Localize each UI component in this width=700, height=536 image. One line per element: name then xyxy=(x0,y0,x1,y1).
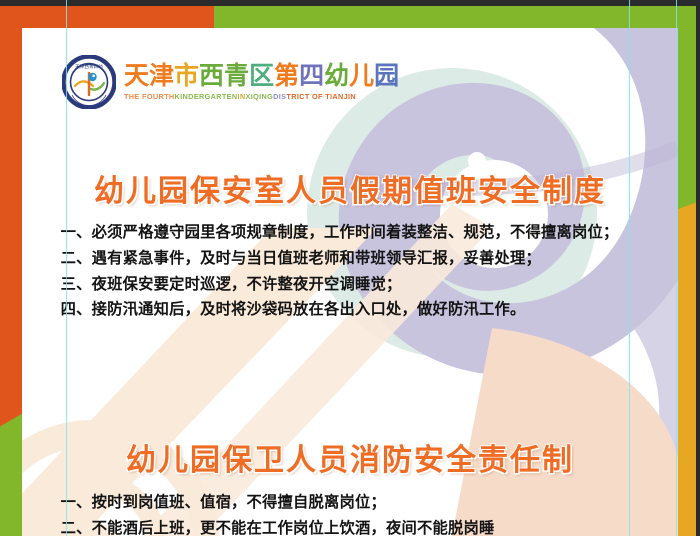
frame-right-dark xyxy=(696,0,700,536)
section-title-2: 幼儿园保卫人员消防安全责任制 xyxy=(22,435,678,479)
section-title-1: 幼儿园保安室人员假期值班安全制度 xyxy=(22,166,678,210)
logo-text: 天津市西青区第四幼儿园 THE FOURTH KINDERGARTEN IN X… xyxy=(124,63,399,101)
frame-top-green xyxy=(214,6,700,28)
logo-en-segment: XIQING xyxy=(246,92,274,101)
guide-line-left xyxy=(66,0,67,536)
logo-en-segment: IN xyxy=(238,92,246,101)
rule-item: 二、不能酒后上班，更不能在工作岗位上饮酒，夜间不能脱岗睡 xyxy=(30,516,678,536)
logo-char: 市 xyxy=(174,63,199,89)
frame-right-green xyxy=(678,6,700,206)
logo-char: 儿 xyxy=(349,63,374,89)
frame-top-orange xyxy=(0,6,214,28)
logo-char: 西 xyxy=(199,63,224,89)
section-body-2: 一、按时到岗值班、值宿，不得擅自脱离岗位； 二、不能酒后上班，更不能在工作岗位上… xyxy=(30,490,678,536)
logo-char: 津 xyxy=(149,63,174,89)
logo-en-segment: KINDERGARTEN xyxy=(175,92,238,101)
guide-line-right xyxy=(629,0,630,536)
school-logo: 天津西青四幼 天津市西青区第四幼儿园 THE FOURTH KINDERGART… xyxy=(62,55,399,109)
rule-item: 一、按时到岗值班、值宿，不得擅自脱离岗位； xyxy=(30,490,678,515)
guide-line-edge xyxy=(676,0,677,536)
frame-left-green xyxy=(0,424,22,536)
rule-item: 四、接防汛通知后，及时将沙袋码放在各出入口处，做好防汛工作。 xyxy=(30,297,678,322)
logo-char: 幼 xyxy=(324,63,349,89)
logo-en-segment: DIS xyxy=(273,92,286,101)
rule-item: 一、必须严格遵守园里各项规章制度，工作时间着装整洁、规范，不得擅离岗位； xyxy=(30,220,678,245)
frame-right-amber xyxy=(678,206,700,536)
logo-char: 四 xyxy=(299,63,324,89)
section-body-1: 一、必须严格遵守园里各项规章制度，工作时间着装整洁、规范，不得擅离岗位； 二、遇… xyxy=(30,220,678,323)
frame-top-dark xyxy=(0,0,700,6)
logo-english-name: THE FOURTH KINDERGARTEN IN XIQING DISTRI… xyxy=(124,92,399,101)
logo-char: 第 xyxy=(274,63,299,89)
frame-left-orange xyxy=(0,6,22,430)
logo-chinese-name: 天津市西青区第四幼儿园 xyxy=(124,63,399,89)
logo-char: 区 xyxy=(249,63,274,89)
poster-content: 天津西青四幼 天津市西青区第四幼儿园 THE FOURTH KINDERGART… xyxy=(22,28,678,536)
logo-en-segment: TRICT OF TIANJIN xyxy=(286,92,356,101)
svg-text:天津西青四幼: 天津西青四幼 xyxy=(75,63,103,70)
frame-left-diagonal xyxy=(0,404,22,440)
rule-item: 二、遇有紧急事件，及时与当日值班老师和带班领导汇报，妥善处理； xyxy=(30,246,678,271)
logo-char: 园 xyxy=(374,63,399,89)
logo-en-segment: THE FOURTH xyxy=(124,92,175,101)
logo-char: 青 xyxy=(224,63,249,89)
rule-item: 三、夜班保安要定时巡逻，不许整夜开空调睡觉； xyxy=(30,272,678,297)
logo-char: 天 xyxy=(124,63,149,89)
frame-right-diagonal xyxy=(678,186,700,226)
poster-canvas: 天津西青四幼 天津市西青区第四幼儿园 THE FOURTH KINDERGART… xyxy=(0,0,700,536)
kindergarten-emblem-icon: 天津西青四幼 xyxy=(62,55,116,109)
